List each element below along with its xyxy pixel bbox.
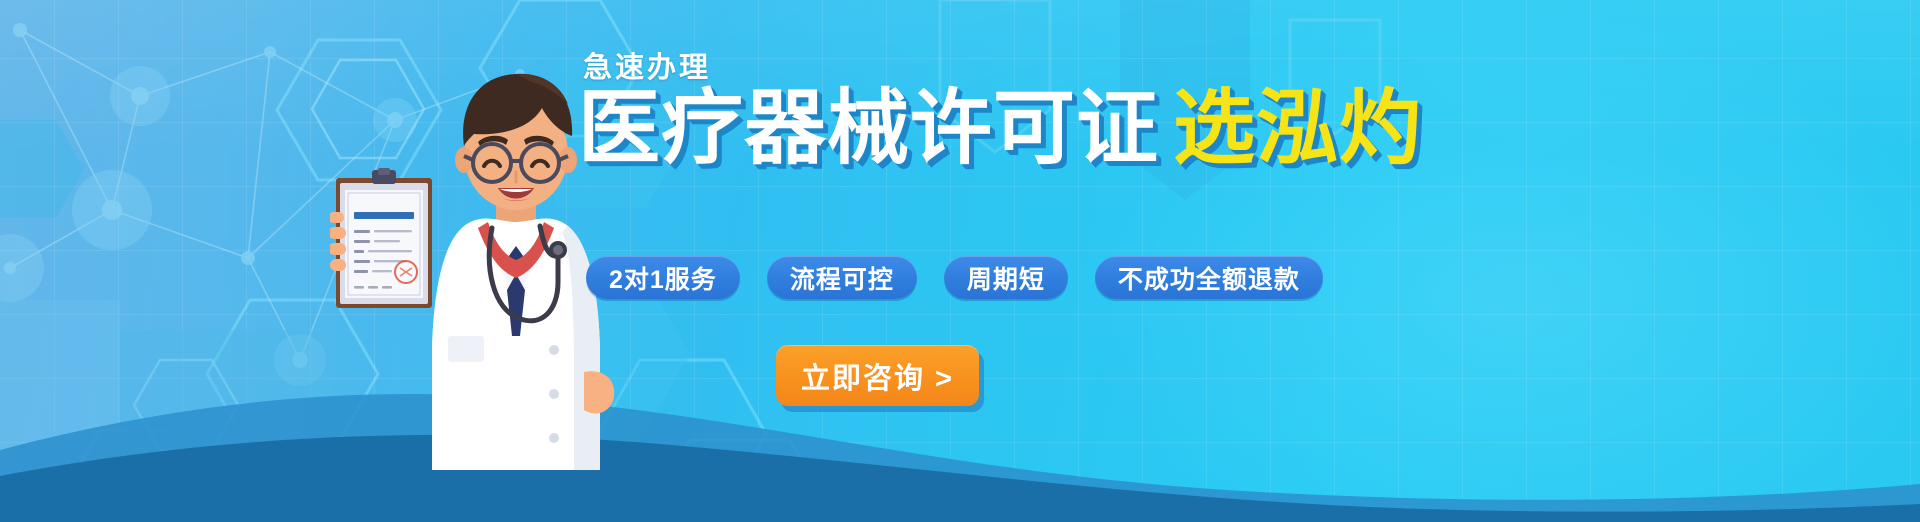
feature-pill-3[interactable]: 不成功全额退款 xyxy=(1095,256,1323,299)
page-title: 医疗器械许可证选泓灼 xyxy=(578,88,1422,170)
consult-now-button[interactable]: 立即咨询 > xyxy=(776,345,979,406)
banner-content: 急速办理 医疗器械许可证选泓灼 2对1服务 流程可控 周期短 不成功全额退款 立… xyxy=(583,0,1483,522)
promo-banner: 急速办理 医疗器械许可证选泓灼 2对1服务 流程可控 周期短 不成功全额退款 立… xyxy=(0,0,1920,522)
feature-pill-2[interactable]: 周期短 xyxy=(944,256,1068,299)
feature-pill-list: 2对1服务 流程可控 周期短 不成功全额退款 xyxy=(586,256,1323,299)
headline-primary: 医疗器械许可证 xyxy=(578,83,1159,174)
eyebrow-text: 急速办理 xyxy=(583,44,711,86)
headline-accent: 选泓灼 xyxy=(1173,83,1422,174)
feature-pill-1[interactable]: 流程可控 xyxy=(767,256,917,299)
feature-pill-0[interactable]: 2对1服务 xyxy=(586,256,740,299)
clipboard-title-text xyxy=(354,212,414,219)
